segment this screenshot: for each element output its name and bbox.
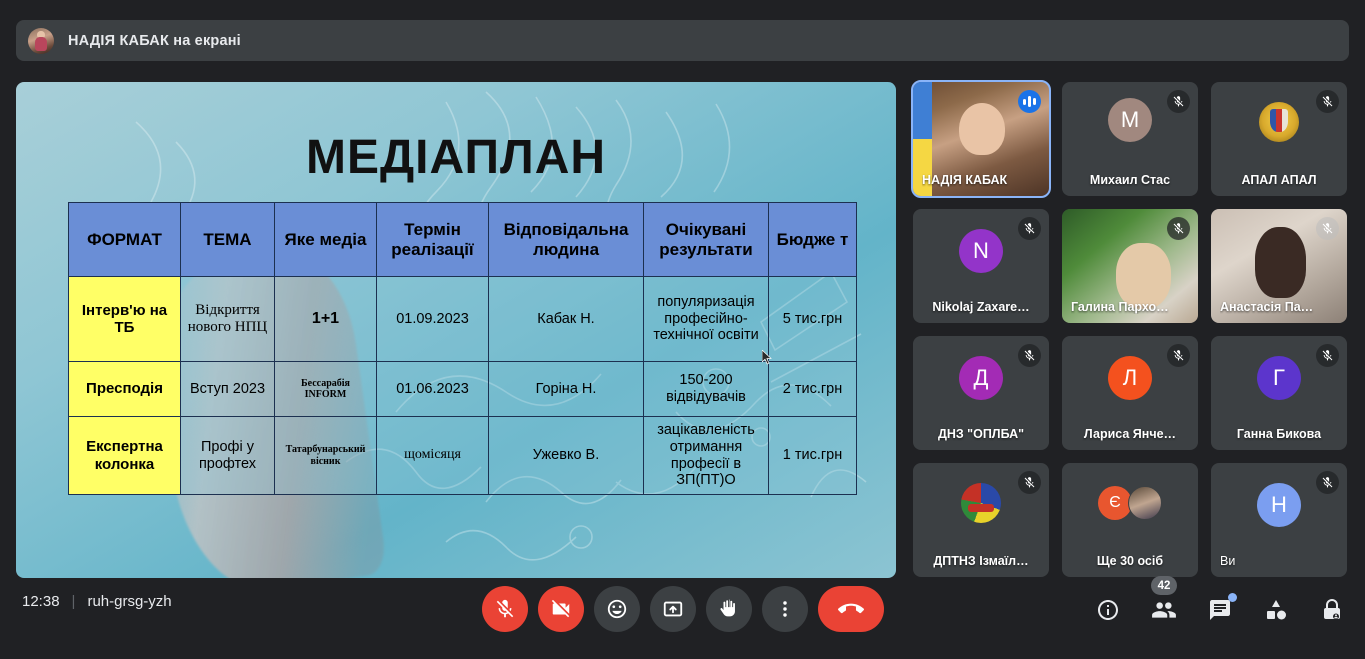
header-budget: Бюдже т <box>769 203 857 277</box>
mic-off-icon <box>1316 344 1339 367</box>
cell-budget: 5 тис.грн <box>769 277 857 362</box>
header-deadline: Термін реалізації <box>377 203 489 277</box>
organization-logo-icon <box>961 483 1001 523</box>
emoji-reactions-button[interactable] <box>594 586 640 632</box>
cell-person: Ужевко В. <box>489 417 644 495</box>
participant-tile-apal-apal[interactable]: АПАЛ АПАЛ <box>1211 82 1347 196</box>
cell-deadline: 01.06.2023 <box>377 362 489 417</box>
participant-tile-anastasiia-pa[interactable]: Анастасія Па… <box>1211 209 1347 323</box>
shared-screen-stage[interactable]: МЕДІАПЛАН ФОРМАТ ТЕМА Яке медіа Термін р… <box>16 82 896 578</box>
cell-format: Пресподія <box>69 362 181 417</box>
cell-result: популяризація професійно-технічної освіт… <box>644 277 769 362</box>
avatar: Л <box>1108 356 1152 400</box>
mic-off-icon <box>1167 217 1190 240</box>
participant-tile-you[interactable]: Н Ви <box>1211 463 1347 577</box>
avatar: N <box>959 229 1003 273</box>
meeting-meta: 12:38 | ruh-grsg-yzh <box>22 593 172 610</box>
presenting-banner: НАДІЯ КАБАК на екрані <box>16 20 1349 61</box>
participant-tile-larysa-yanche[interactable]: Л Лариса Янче… <box>1062 336 1198 450</box>
participant-name: Лариса Янче… <box>1066 427 1194 441</box>
meeting-code[interactable]: ruh-grsg-yzh <box>87 593 171 610</box>
avatar <box>1128 486 1162 520</box>
header-theme: ТЕМА <box>181 203 275 277</box>
avatar: Н <box>1257 483 1301 527</box>
cell-media: Татарбунарський вісник <box>275 417 377 495</box>
cell-budget: 1 тис.грн <box>769 417 857 495</box>
mic-off-icon <box>1316 471 1339 494</box>
cell-budget: 2 тис.грн <box>769 362 857 417</box>
participant-tile-mihail-stas[interactable]: М Михаил Стас <box>1062 82 1198 196</box>
participant-tile-nikolaj-zaxare[interactable]: N Nikolaj Zaxare… <box>913 209 1049 323</box>
cell-result: 150-200 відвідувачів <box>644 362 769 417</box>
present-screen-button[interactable] <box>650 586 696 632</box>
microphone-off-button[interactable] <box>482 586 528 632</box>
call-controls <box>482 586 884 632</box>
participant-grid: НАДІЯ КАБАК М Михаил Стас АПАЛ АПАЛ N Ni… <box>913 82 1349 578</box>
participant-name: Ви <box>1220 554 1338 568</box>
show-everyone-button[interactable]: 42 <box>1149 595 1179 625</box>
avatar: Д <box>959 356 1003 400</box>
participant-name: Анастасія Па… <box>1220 300 1338 314</box>
camera-off-button[interactable] <box>538 586 584 632</box>
mic-off-icon <box>1018 344 1041 367</box>
presenter-avatar <box>28 28 54 54</box>
participant-tile-hanna-bykova[interactable]: Г Ганна Бикова <box>1211 336 1347 450</box>
participant-name: ДНЗ "ОПЛБА" <box>917 427 1045 441</box>
organization-logo-icon <box>1259 102 1299 142</box>
header-result: Очікувані результати <box>644 203 769 277</box>
meeting-details-button[interactable] <box>1093 595 1123 625</box>
overflow-avatars: Є <box>1098 486 1162 520</box>
mic-off-icon <box>1018 217 1041 240</box>
participant-tile-dptnz-izmail[interactable]: ДПТНЗ Ізмаїл… <box>913 463 1049 577</box>
meta-separator: | <box>72 593 76 610</box>
participant-name: ДПТНЗ Ізмаїл… <box>917 554 1045 568</box>
header-format: ФОРМАТ <box>69 203 181 277</box>
cell-media: Бессарабія INFORM <box>275 362 377 417</box>
cell-theme: Профі у профтех <box>181 417 275 495</box>
chat-button[interactable] <box>1205 595 1235 625</box>
participant-name: АПАЛ АПАЛ <box>1215 173 1343 187</box>
cell-format: Інтерв'ю на ТБ <box>69 277 181 362</box>
bottom-bar: 12:38 | ruh-grsg-yzh <box>0 581 1365 659</box>
participant-tile-more-people[interactable]: Є Ще 30 осіб <box>1062 463 1198 577</box>
table-row: Пресподія Вступ 2023 Бессарабія INFORM 0… <box>69 362 857 417</box>
mic-off-icon <box>1167 90 1190 113</box>
table-header-row: ФОРМАТ ТЕМА Яке медіа Термін реалізації … <box>69 203 857 277</box>
header-media: Яке медіа <box>275 203 377 277</box>
cell-deadline: 01.09.2023 <box>377 277 489 362</box>
slide-title: МЕДІАПЛАН <box>16 130 896 185</box>
participant-name: Михаил Стас <box>1066 173 1194 187</box>
table-row: Інтерв'ю на ТБ Відкриття нового НПЦ 1+1 … <box>69 277 857 362</box>
participant-name: Ганна Бикова <box>1215 427 1343 441</box>
cell-deadline: щомісяця <box>377 417 489 495</box>
mic-off-icon <box>1316 217 1339 240</box>
chat-unread-dot <box>1228 593 1237 602</box>
activities-button[interactable] <box>1261 595 1291 625</box>
cell-format: Експертна колонка <box>69 417 181 495</box>
participant-name: НАДІЯ КАБАК <box>922 173 1040 187</box>
avatar: М <box>1108 98 1152 142</box>
participant-name: Nikolaj Zaxare… <box>917 300 1045 314</box>
more-options-button[interactable] <box>762 586 808 632</box>
cell-person: Кабак Н. <box>489 277 644 362</box>
cell-person: Горіна Н. <box>489 362 644 417</box>
cell-result: зацікавленість отримання професії в ЗП(П… <box>644 417 769 495</box>
participant-tile-dnz-oplba[interactable]: Д ДНЗ "ОПЛБА" <box>913 336 1049 450</box>
cell-theme: Вступ 2023 <box>181 362 275 417</box>
presenting-banner-label: НАДІЯ КАБАК на екрані <box>68 33 241 49</box>
participant-name: Галина Пархо… <box>1071 300 1189 314</box>
leave-call-button[interactable] <box>818 586 884 632</box>
meeting-time: 12:38 <box>22 593 60 610</box>
cell-theme: Відкриття нового НПЦ <box>181 277 275 362</box>
participant-tile-halyna-parkho[interactable]: Галина Пархо… <box>1062 209 1198 323</box>
mediaplan-table: ФОРМАТ ТЕМА Яке медіа Термін реалізації … <box>68 202 857 495</box>
host-controls-button[interactable] <box>1317 595 1347 625</box>
cell-media: 1+1 <box>275 277 377 362</box>
table-row: Експертна колонка Профі у профтех Татарб… <box>69 417 857 495</box>
avatar: Г <box>1257 356 1301 400</box>
avatar: Є <box>1098 486 1132 520</box>
header-person: Відповідальна людина <box>489 203 644 277</box>
mic-off-icon <box>1018 471 1041 494</box>
mic-off-icon <box>1167 344 1190 367</box>
more-people-label: Ще 30 осіб <box>1066 554 1194 568</box>
participant-tile-nadiia-kabak[interactable]: НАДІЯ КАБАК <box>913 82 1049 196</box>
mic-off-icon <box>1316 90 1339 113</box>
raise-hand-button[interactable] <box>706 586 752 632</box>
participant-count-badge: 42 <box>1151 576 1177 595</box>
right-controls: 42 <box>1093 595 1347 625</box>
speaking-indicator-icon <box>1018 90 1041 113</box>
